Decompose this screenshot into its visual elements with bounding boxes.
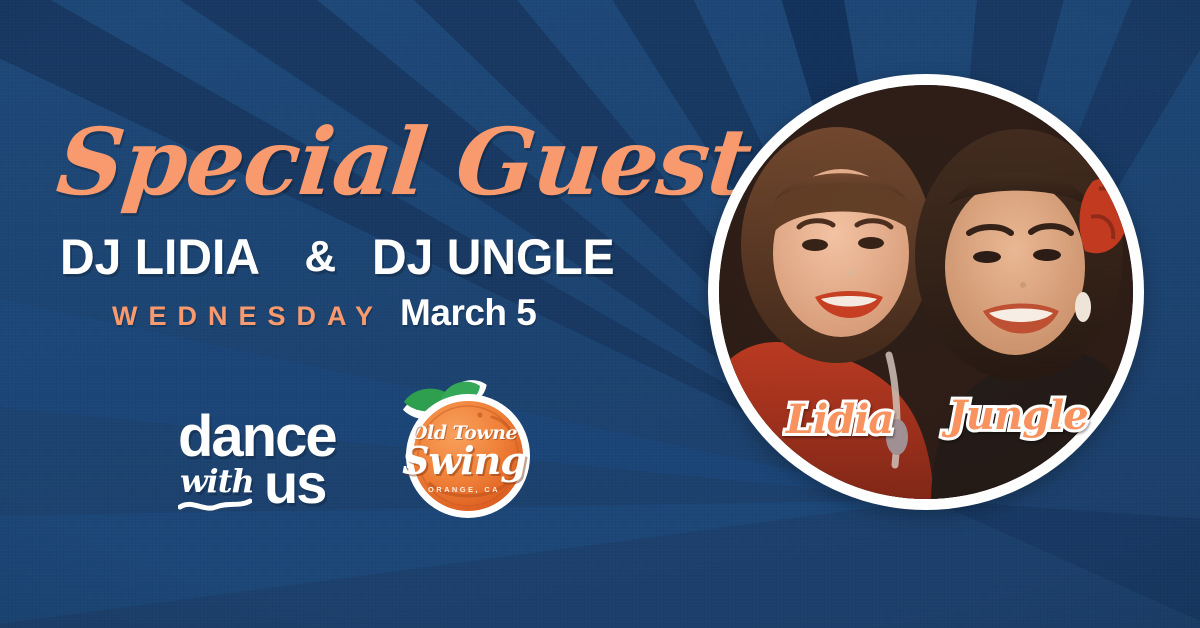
event-date: WEDNESDAY March 5 <box>112 292 536 334</box>
event-day-month: March 5 <box>400 292 536 334</box>
dwu-swash-underline <box>178 498 252 512</box>
event-weekday: WEDNESDAY <box>112 301 384 332</box>
ampersand-separator: & <box>304 228 336 286</box>
dwu-us-word: us <box>264 456 325 512</box>
page-title: Special Guest DJs <box>52 108 703 216</box>
event-poster: Special Guest DJs DJ LIDIA & DJ UNGLE WE… <box>0 0 1200 628</box>
dwu-with-word: with <box>180 464 254 498</box>
photo-name-right: Jungle <box>948 394 1088 438</box>
poster-text-column: Special Guest DJs DJ LIDIA & DJ UNGLE WE… <box>0 0 720 628</box>
old-towne-swing-badge: Old Towne Swing ORANGE, CA <box>388 372 540 524</box>
dj-lineup: DJ LIDIA & DJ UNGLE <box>60 228 710 286</box>
dance-with-us-logo: dance with us <box>178 408 368 518</box>
photo-name-left: Lidia <box>786 398 893 442</box>
dj-one-name: DJ LIDIA <box>60 228 260 286</box>
dj-two-name: DJ UNGLE <box>372 228 615 286</box>
dj-photo <box>708 74 1144 510</box>
